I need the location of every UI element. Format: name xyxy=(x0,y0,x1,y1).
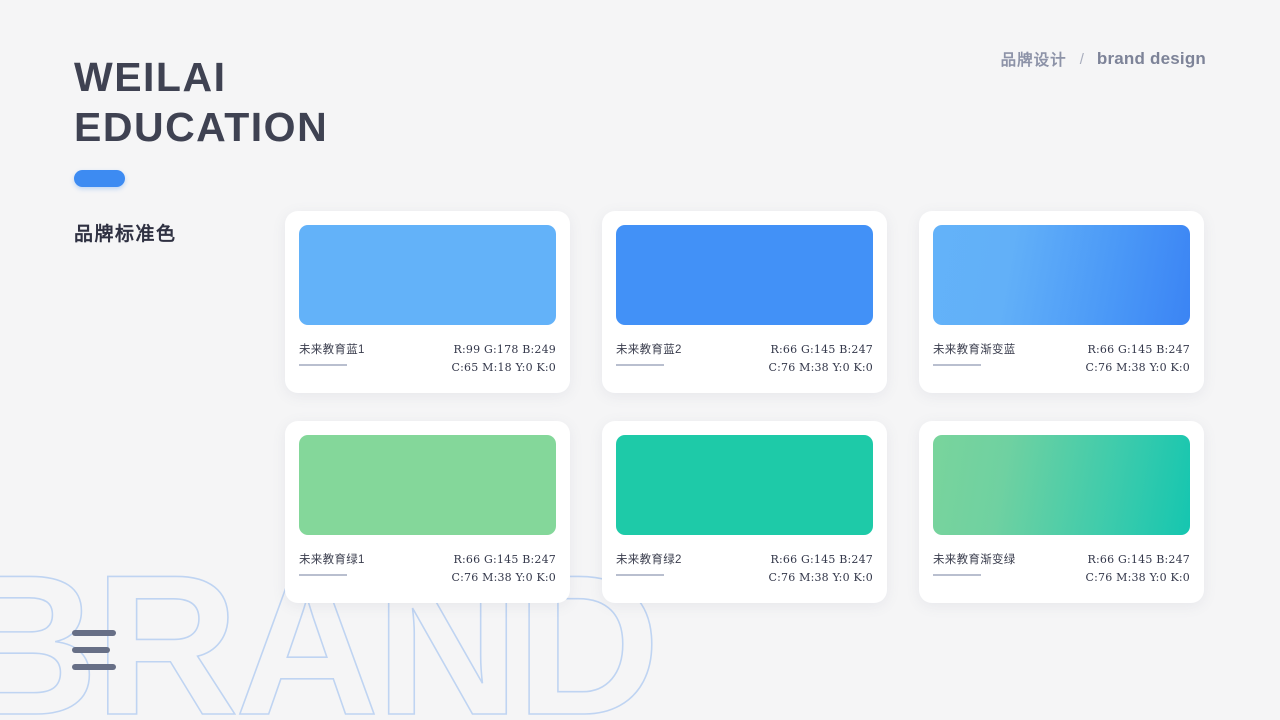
header-brand-design: 品牌设计 / brand design xyxy=(1001,48,1206,70)
color-swatch-rgb: R:66 G:145 B:247 xyxy=(1085,341,1190,359)
color-swatch-rgb: R:66 G:145 B:247 xyxy=(1085,551,1190,569)
color-swatch-cmyk: C:76 M:38 Y:0 K:0 xyxy=(451,569,556,587)
color-swatch-values: R:66 G:145 B:247C:76 M:38 Y:0 K:0 xyxy=(768,551,873,587)
color-swatch-rgb: R:66 G:145 B:247 xyxy=(768,551,873,569)
header-cn-label: 品牌设计 xyxy=(1001,48,1067,70)
color-swatch-preview xyxy=(616,225,873,325)
color-swatch-underline xyxy=(299,574,347,576)
color-swatch-values: R:66 G:145 B:247C:76 M:38 Y:0 K:0 xyxy=(768,341,873,377)
page-title-line-1: WEILAI xyxy=(74,52,328,102)
color-swatch-values: R:66 G:145 B:247C:76 M:38 Y:0 K:0 xyxy=(1085,341,1190,377)
color-swatch-underline xyxy=(933,574,981,576)
color-swatch-info: 未来教育蓝2R:66 G:145 B:247C:76 M:38 Y:0 K:0 xyxy=(616,341,873,377)
color-swatch-card[interactable]: 未来教育蓝1R:99 G:178 B:249C:65 M:18 Y:0 K:0 xyxy=(285,211,570,393)
color-swatch-name-wrap: 未来教育渐变蓝 xyxy=(933,341,1016,366)
color-swatch-card[interactable]: 未来教育绿1R:66 G:145 B:247C:76 M:38 Y:0 K:0 xyxy=(285,421,570,603)
color-swatch-cmyk: C:76 M:38 Y:0 K:0 xyxy=(1085,569,1190,587)
title-accent-pill xyxy=(74,170,125,187)
color-swatch-values: R:99 G:178 B:249C:65 M:18 Y:0 K:0 xyxy=(451,341,556,377)
color-swatch-card[interactable]: 未来教育绿2R:66 G:145 B:247C:76 M:38 Y:0 K:0 xyxy=(602,421,887,603)
color-swatch-info: 未来教育绿1R:66 G:145 B:247C:76 M:38 Y:0 K:0 xyxy=(299,551,556,587)
section-title: 品牌标准色 xyxy=(74,219,177,246)
color-swatch-grid: 未来教育蓝1R:99 G:178 B:249C:65 M:18 Y:0 K:0未… xyxy=(285,211,1205,603)
color-swatch-preview xyxy=(933,225,1190,325)
hamburger-bar-2 xyxy=(72,647,110,653)
color-swatch-underline xyxy=(616,364,664,366)
color-swatch-info: 未来教育蓝1R:99 G:178 B:249C:65 M:18 Y:0 K:0 xyxy=(299,341,556,377)
color-swatch-info: 未来教育绿2R:66 G:145 B:247C:76 M:38 Y:0 K:0 xyxy=(616,551,873,587)
slide-canvas: BRAND 品牌设计 / brand design WEILAI EDUCATI… xyxy=(0,0,1280,720)
color-swatch-preview xyxy=(299,225,556,325)
color-swatch-name: 未来教育渐变绿 xyxy=(933,551,1016,567)
hamburger-menu-icon[interactable] xyxy=(72,630,118,670)
color-swatch-cmyk: C:76 M:38 Y:0 K:0 xyxy=(768,359,873,377)
color-swatch-name-wrap: 未来教育绿2 xyxy=(616,551,682,576)
hamburger-bar-1 xyxy=(72,630,116,636)
color-swatch-name: 未来教育渐变蓝 xyxy=(933,341,1016,357)
color-swatch-name-wrap: 未来教育渐变绿 xyxy=(933,551,1016,576)
color-swatch-preview xyxy=(616,435,873,535)
color-swatch-info: 未来教育渐变绿R:66 G:145 B:247C:76 M:38 Y:0 K:0 xyxy=(933,551,1190,587)
color-swatch-rgb: R:99 G:178 B:249 xyxy=(451,341,556,359)
color-swatch-name: 未来教育蓝1 xyxy=(299,341,365,357)
color-swatch-cmyk: C:65 M:18 Y:0 K:0 xyxy=(451,359,556,377)
color-swatch-card[interactable]: 未来教育渐变蓝R:66 G:145 B:247C:76 M:38 Y:0 K:0 xyxy=(919,211,1204,393)
header-separator: / xyxy=(1080,51,1084,68)
hamburger-bar-3 xyxy=(72,664,116,670)
color-swatch-rgb: R:66 G:145 B:247 xyxy=(768,341,873,359)
color-swatch-name: 未来教育绿2 xyxy=(616,551,682,567)
color-swatch-underline xyxy=(299,364,347,366)
header-en-label: brand design xyxy=(1097,49,1206,69)
color-swatch-name-wrap: 未来教育蓝2 xyxy=(616,341,682,366)
color-swatch-preview xyxy=(933,435,1190,535)
color-swatch-cmyk: C:76 M:38 Y:0 K:0 xyxy=(1085,359,1190,377)
color-swatch-info: 未来教育渐变蓝R:66 G:145 B:247C:76 M:38 Y:0 K:0 xyxy=(933,341,1190,377)
color-swatch-name: 未来教育蓝2 xyxy=(616,341,682,357)
color-swatch-cmyk: C:76 M:38 Y:0 K:0 xyxy=(768,569,873,587)
color-swatch-rgb: R:66 G:145 B:247 xyxy=(451,551,556,569)
color-swatch-values: R:66 G:145 B:247C:76 M:38 Y:0 K:0 xyxy=(1085,551,1190,587)
color-swatch-underline xyxy=(616,574,664,576)
page-title-line-2: EDUCATION xyxy=(74,102,328,152)
color-swatch-name-wrap: 未来教育绿1 xyxy=(299,551,365,576)
color-swatch-name-wrap: 未来教育蓝1 xyxy=(299,341,365,366)
color-swatch-card[interactable]: 未来教育蓝2R:66 G:145 B:247C:76 M:38 Y:0 K:0 xyxy=(602,211,887,393)
color-swatch-values: R:66 G:145 B:247C:76 M:38 Y:0 K:0 xyxy=(451,551,556,587)
color-swatch-name: 未来教育绿1 xyxy=(299,551,365,567)
page-title: WEILAI EDUCATION xyxy=(74,52,328,187)
color-swatch-underline xyxy=(933,364,981,366)
color-swatch-preview xyxy=(299,435,556,535)
color-swatch-card[interactable]: 未来教育渐变绿R:66 G:145 B:247C:76 M:38 Y:0 K:0 xyxy=(919,421,1204,603)
